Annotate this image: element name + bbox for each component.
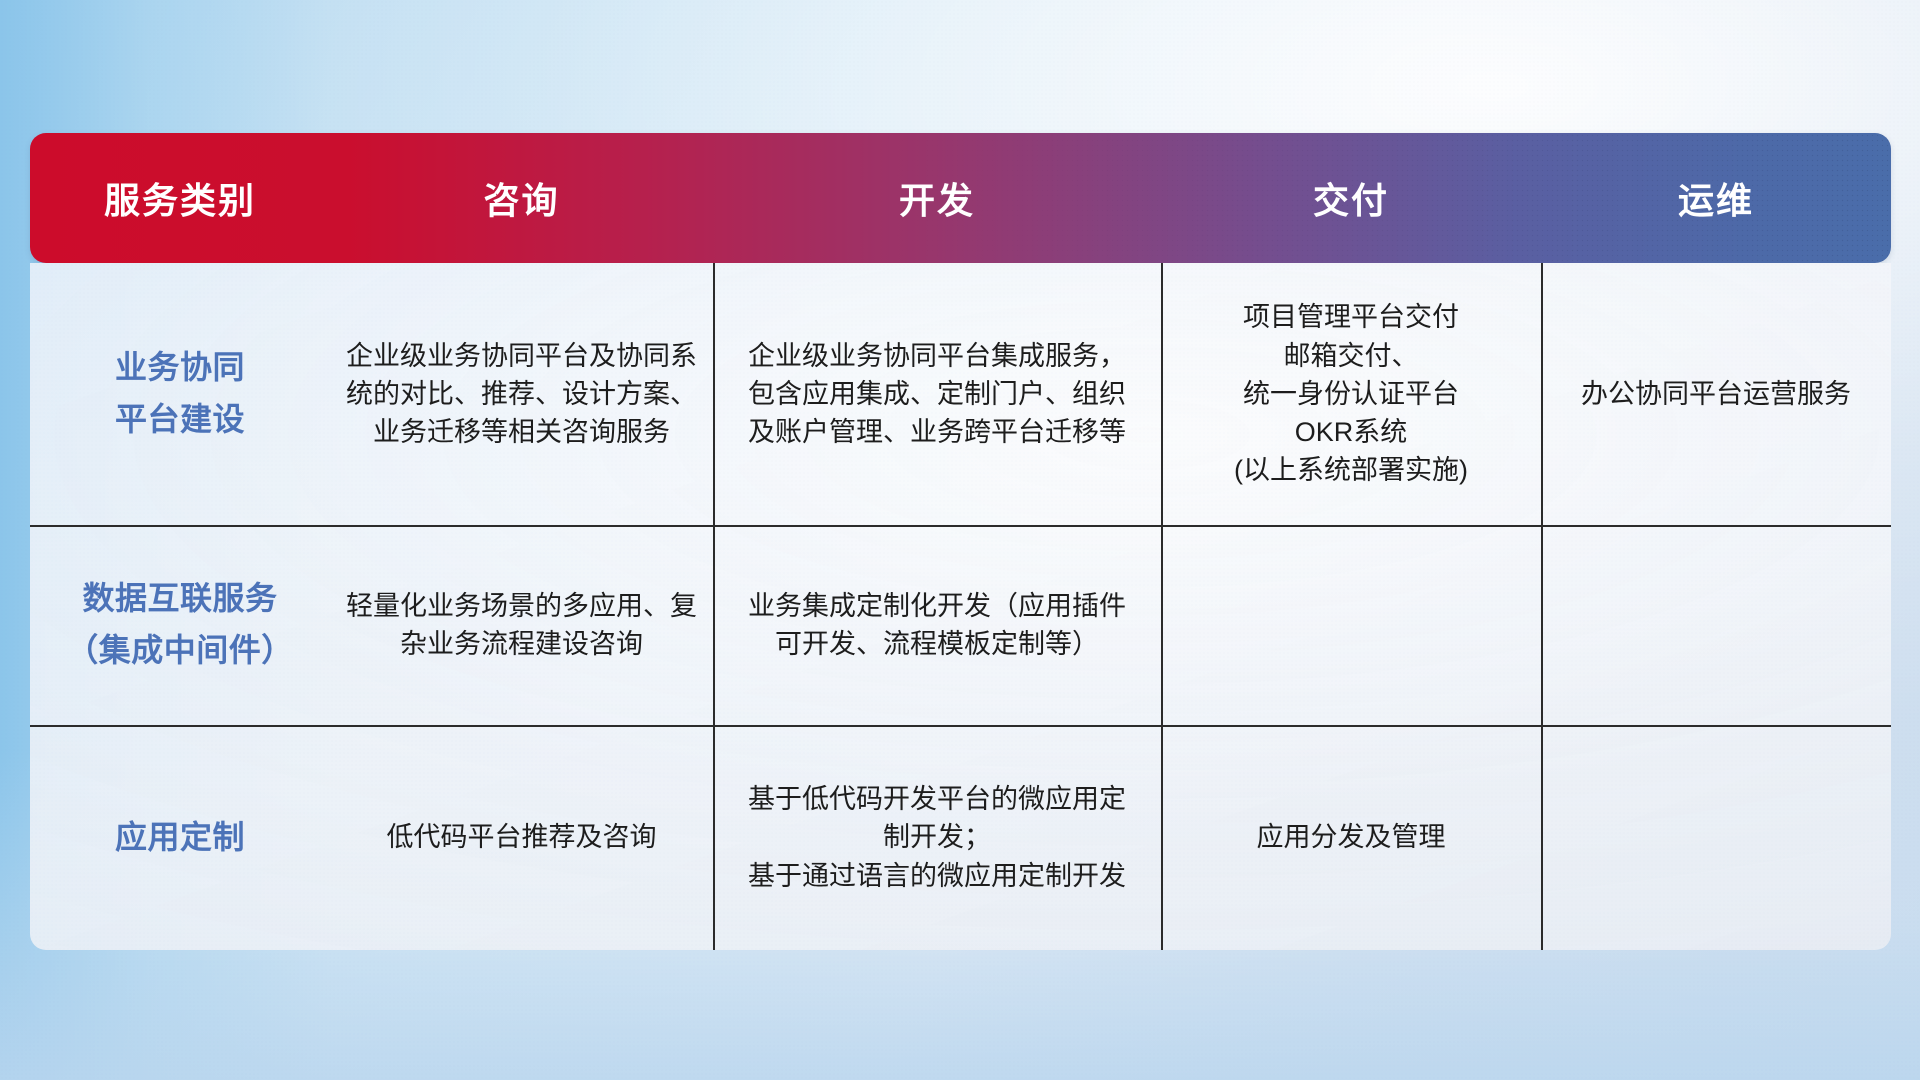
column-divider-1	[713, 263, 715, 950]
cell-delivery-row1: 项目管理平台交付 邮箱交付、 统一身份认证平台 OKR系统 (以上系统部署实施)	[1161, 263, 1541, 525]
table-row: 应用定制 低代码平台推荐及咨询 基于低代码开发平台的微应用定 制开发； 基于通过…	[30, 725, 1891, 950]
cell-development-row3: 基于低代码开发平台的微应用定 制开发； 基于通过语言的微应用定制开发	[713, 725, 1161, 950]
row-divider-1	[30, 525, 1891, 527]
column-header-category[interactable]: 服务类别	[30, 133, 330, 263]
column-header-operations[interactable]: 运维	[1541, 133, 1891, 263]
column-header-delivery[interactable]: 交付	[1161, 133, 1541, 263]
table-row: 业务协同 平台建设 企业级业务协同平台及协同系 统的对比、推荐、设计方案、 业务…	[30, 263, 1891, 525]
service-matrix-table: 服务类别 咨询 开发 交付 运维 业务协同 平台建设 企业级业务协同平台及协同系…	[30, 133, 1891, 950]
column-divider-2	[1161, 263, 1163, 950]
table-header-row: 服务类别 咨询 开发 交付 运维	[30, 133, 1891, 263]
row-label-app-customization: 应用定制	[30, 725, 330, 950]
cell-consulting-row2: 轻量化业务场景的多应用、复 杂业务流程建设咨询	[330, 525, 713, 725]
cell-development-row2: 业务集成定制化开发（应用插件 可开发、流程模板定制等）	[713, 525, 1161, 725]
table-body: 业务协同 平台建设 企业级业务协同平台及协同系 统的对比、推荐、设计方案、 业务…	[30, 263, 1891, 950]
column-header-development[interactable]: 开发	[713, 133, 1161, 263]
row-label-data-interconnect: 数据互联服务 （集成中间件）	[30, 525, 330, 725]
cell-development-row1: 企业级业务协同平台集成服务， 包含应用集成、定制门户、组织 及账户管理、业务跨平…	[713, 263, 1161, 525]
column-divider-3	[1541, 263, 1543, 950]
row-label-business-collaboration: 业务协同 平台建设	[30, 263, 330, 525]
cell-operations-row3	[1541, 725, 1891, 950]
row-divider-2	[30, 725, 1891, 727]
cell-delivery-row3: 应用分发及管理	[1161, 725, 1541, 950]
cell-delivery-row2	[1161, 525, 1541, 725]
column-header-consulting[interactable]: 咨询	[330, 133, 713, 263]
slide-canvas: 服务类别 咨询 开发 交付 运维 业务协同 平台建设 企业级业务协同平台及协同系…	[0, 0, 1920, 1080]
table-row: 数据互联服务 （集成中间件） 轻量化业务场景的多应用、复 杂业务流程建设咨询 业…	[30, 525, 1891, 725]
cell-operations-row1: 办公协同平台运营服务	[1541, 263, 1891, 525]
cell-consulting-row1: 企业级业务协同平台及协同系 统的对比、推荐、设计方案、 业务迁移等相关咨询服务	[330, 263, 713, 525]
cell-operations-row2	[1541, 525, 1891, 725]
cell-consulting-row3: 低代码平台推荐及咨询	[330, 725, 713, 950]
